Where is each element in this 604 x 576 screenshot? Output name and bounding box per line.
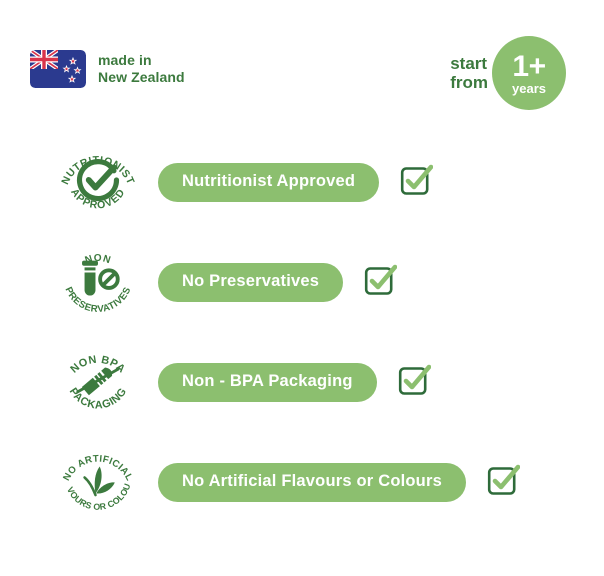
made-in-label: made in New Zealand xyxy=(98,52,185,87)
claim-label-pill[interactable]: Non - BPA Packaging xyxy=(158,363,377,402)
age-circle-badge: 1+ years xyxy=(492,36,566,110)
checked-checkbox-icon[interactable] xyxy=(377,363,431,402)
claim-row: NON BPA PACKAGING Non - BPA Packaging xyxy=(0,332,604,432)
start-from-label: start from xyxy=(450,54,488,92)
start-from-line1: start xyxy=(450,54,488,73)
claim-row: NUTRITIONIST APPROVED Nutritionist Appro… xyxy=(0,132,604,232)
svg-text:PRESERVATIVES: PRESERVATIVES xyxy=(63,285,134,315)
claim-label-pill[interactable]: Nutritionist Approved xyxy=(158,163,379,202)
checked-checkbox-icon[interactable] xyxy=(379,163,433,202)
svg-text:NON BPA: NON BPA xyxy=(68,353,127,375)
seal-top-text: NON BPA xyxy=(68,353,127,375)
claim-label-pill[interactable]: No Artificial Flavours or Colours xyxy=(158,463,466,502)
age-unit: years xyxy=(512,82,546,95)
made-in-line2: New Zealand xyxy=(98,69,185,87)
checked-checkbox-icon[interactable] xyxy=(343,263,397,302)
start-from-line2: from xyxy=(450,73,488,92)
header-bar: made in New Zealand start from 1+ years xyxy=(0,0,604,130)
svg-text:PACKAGING: PACKAGING xyxy=(67,385,130,411)
claim-row: NO ARTIFICIAL FLAVOURS OR COLOURS No Art… xyxy=(0,432,604,532)
new-zealand-flag-icon xyxy=(30,50,86,88)
claim-label-pill[interactable]: No Preservatives xyxy=(158,263,343,302)
checked-checkbox-icon[interactable] xyxy=(466,463,520,502)
age-value: 1+ xyxy=(512,53,545,82)
non-bpa-packaging-seal-icon: NON BPA PACKAGING xyxy=(0,338,140,427)
no-preservatives-seal-icon: NON PRESERVATIVES xyxy=(0,238,140,327)
claim-row: NON PRESERVATIVES No Preservatives xyxy=(0,232,604,332)
made-in-line1: made in xyxy=(98,52,185,70)
age-badge: start from 1+ years xyxy=(450,36,566,110)
seal-bottom-text: PACKAGING xyxy=(67,385,130,411)
nutritionist-approved-seal-icon: NUTRITIONIST APPROVED xyxy=(0,138,140,227)
claims-list: NUTRITIONIST APPROVED Nutritionist Appro… xyxy=(0,132,604,532)
no-artificial-flavours-seal-icon: NO ARTIFICIAL FLAVOURS OR COLOURS xyxy=(0,438,140,527)
made-in-block: made in New Zealand xyxy=(30,50,185,88)
seal-bottom-text: PRESERVATIVES xyxy=(63,285,134,315)
